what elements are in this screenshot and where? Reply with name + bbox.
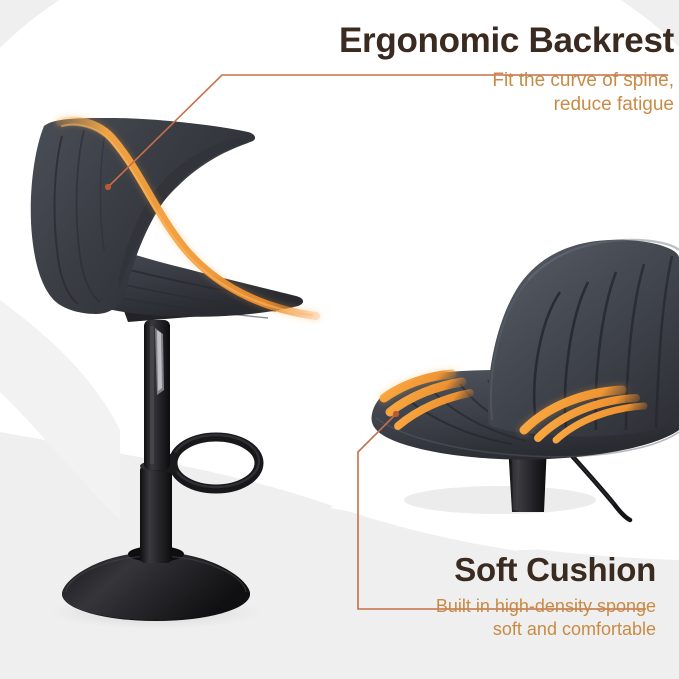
callout-subtitle-backrest-line-1: Fit the curve of spine, [218,69,674,93]
callout-ergonomic-backrest: Ergonomic Backrest Fit the curve of spin… [218,22,674,117]
callout-soft-cushion: Soft Cushion Built in high-density spong… [360,552,656,641]
callout-subtitle-cushion: Built in high-density sponge soft and co… [360,588,656,641]
callout-subtitle-cushion-line-2: soft and comfortable [360,618,656,641]
callout-subtitle-backrest: Fit the curve of spine, reduce fatigue [218,60,674,118]
callout-heading-backrest: Ergonomic Backrest [218,22,674,60]
infographic-canvas: Ergonomic Backrest Fit the curve of spin… [0,0,679,679]
leader-dot-cushion [393,411,399,417]
callout-heading-cushion: Soft Cushion [360,552,656,588]
callout-subtitle-backrest-line-2: reduce fatigue [218,93,674,117]
leader-dot-backrest [105,184,111,190]
callout-subtitle-cushion-line-1: Built in high-density sponge [360,595,656,618]
